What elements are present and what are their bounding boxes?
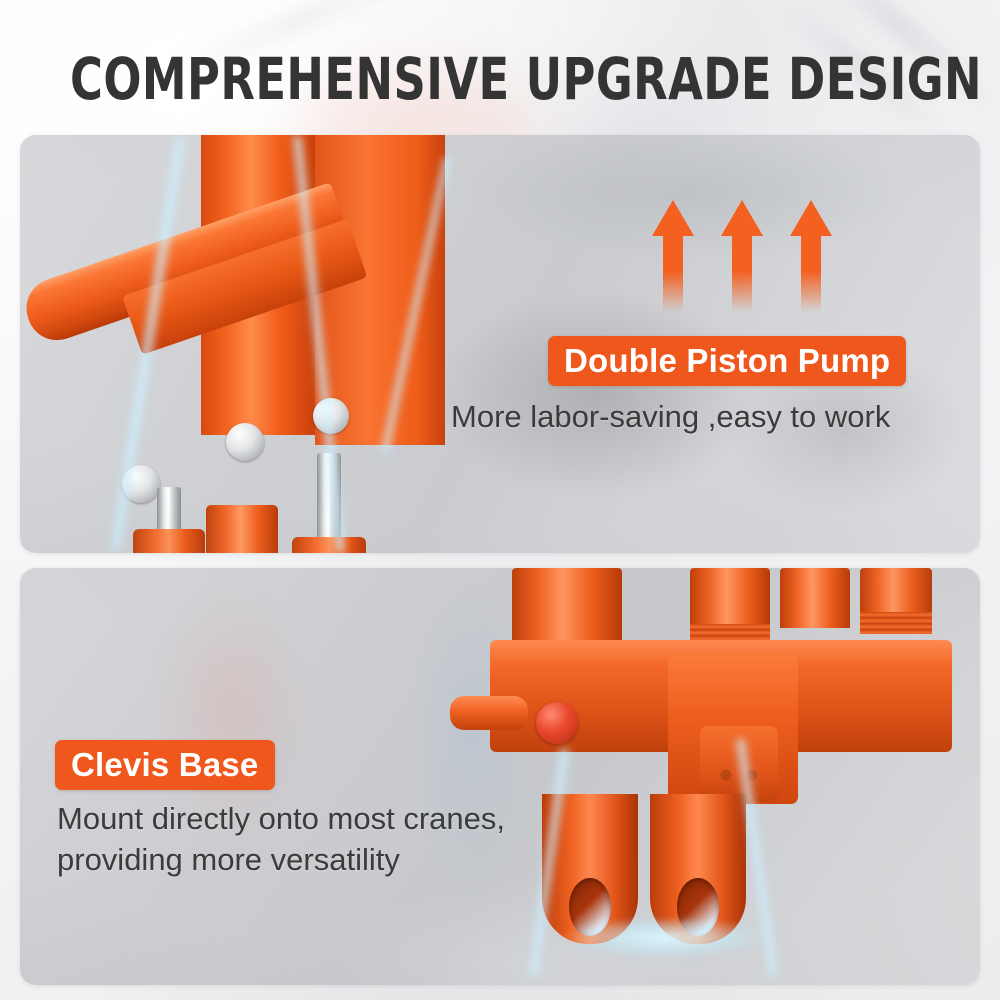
feature-caption-clevis-base: Mount directly onto most cranes, providi… xyxy=(57,798,505,880)
up-arrows-icon-group xyxy=(652,200,832,312)
feature-badge-double-piston-pump: Double Piston Pump xyxy=(548,336,906,386)
arrow-up-icon xyxy=(790,200,832,312)
arrow-up-icon xyxy=(652,200,694,312)
page-title: COMPREHENSIVE UPGRADE DESIGN xyxy=(70,48,930,110)
feature-badge-clevis-base: Clevis Base xyxy=(55,740,275,790)
arrow-up-icon xyxy=(721,200,763,312)
product-feature-graphic: COMPREHENSIVE UPGRADE DESIGN xyxy=(0,0,1000,1000)
feature-caption-double-piston-pump: More labor-saving ,easy to work xyxy=(451,396,890,437)
